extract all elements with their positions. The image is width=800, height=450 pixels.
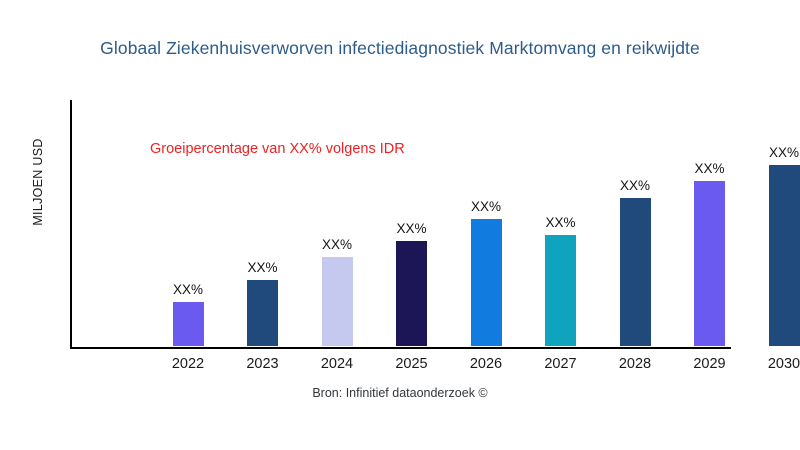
bar[interactable] <box>396 241 427 346</box>
bar-group[interactable]: XX% <box>396 241 427 346</box>
bar[interactable] <box>769 165 800 347</box>
x-axis-tick-label: 2029 <box>675 356 745 372</box>
chart-container: Globaal Ziekenhuisverworven infectiediag… <box>0 0 800 450</box>
bar-value-label: XX% <box>173 282 203 297</box>
x-axis-tick-label: 2022 <box>153 356 223 372</box>
y-axis-line <box>70 100 72 348</box>
x-axis-tick-label: 2026 <box>451 356 521 372</box>
x-axis-tick-label: 2023 <box>228 356 298 372</box>
bar[interactable] <box>620 198 651 347</box>
bar-group[interactable]: XX% <box>620 198 651 347</box>
bar-value-label: XX% <box>247 260 277 275</box>
bar-value-label: XX% <box>322 237 352 252</box>
plot-area: XX%XX%XX%XX%XX%XX%XX%XX%XX%XX% 202220232… <box>70 100 750 348</box>
bar-group[interactable]: XX% <box>471 219 502 346</box>
bar[interactable] <box>545 235 576 346</box>
x-axis-tick-label: 2024 <box>302 356 372 372</box>
bar-value-label: XX% <box>620 178 650 193</box>
x-axis-tick-label: 2025 <box>377 356 447 372</box>
bar-group[interactable]: XX% <box>173 302 204 347</box>
growth-rate-annotation: Groeipercentage van XX% volgens IDR <box>150 141 405 157</box>
x-axis-tick-label: 2027 <box>526 356 596 372</box>
bar[interactable] <box>173 302 204 347</box>
bar-value-label: XX% <box>545 215 575 230</box>
bar[interactable] <box>247 280 278 346</box>
bar-value-label: XX% <box>396 221 426 236</box>
bar[interactable] <box>322 257 353 346</box>
bar-group[interactable]: XX% <box>769 165 800 347</box>
bar-group[interactable]: XX% <box>247 280 278 346</box>
x-axis-line <box>70 347 731 349</box>
bar[interactable] <box>694 181 725 347</box>
bar[interactable] <box>471 219 502 346</box>
x-axis-tick-label: 2030 <box>749 356 800 372</box>
bar-value-label: XX% <box>769 145 799 160</box>
bar-group[interactable]: XX% <box>322 257 353 346</box>
bar-group[interactable]: XX% <box>545 235 576 346</box>
source-note: Bron: Infinitief dataonderzoek © <box>0 386 800 400</box>
bar-value-label: XX% <box>471 199 501 214</box>
chart-title: Globaal Ziekenhuisverworven infectiediag… <box>0 38 800 59</box>
bar-value-label: XX% <box>694 161 724 176</box>
bar-group[interactable]: XX% <box>694 181 725 347</box>
x-axis-tick-label: 2028 <box>600 356 670 372</box>
y-axis-label: MILJOEN USD <box>31 102 45 262</box>
